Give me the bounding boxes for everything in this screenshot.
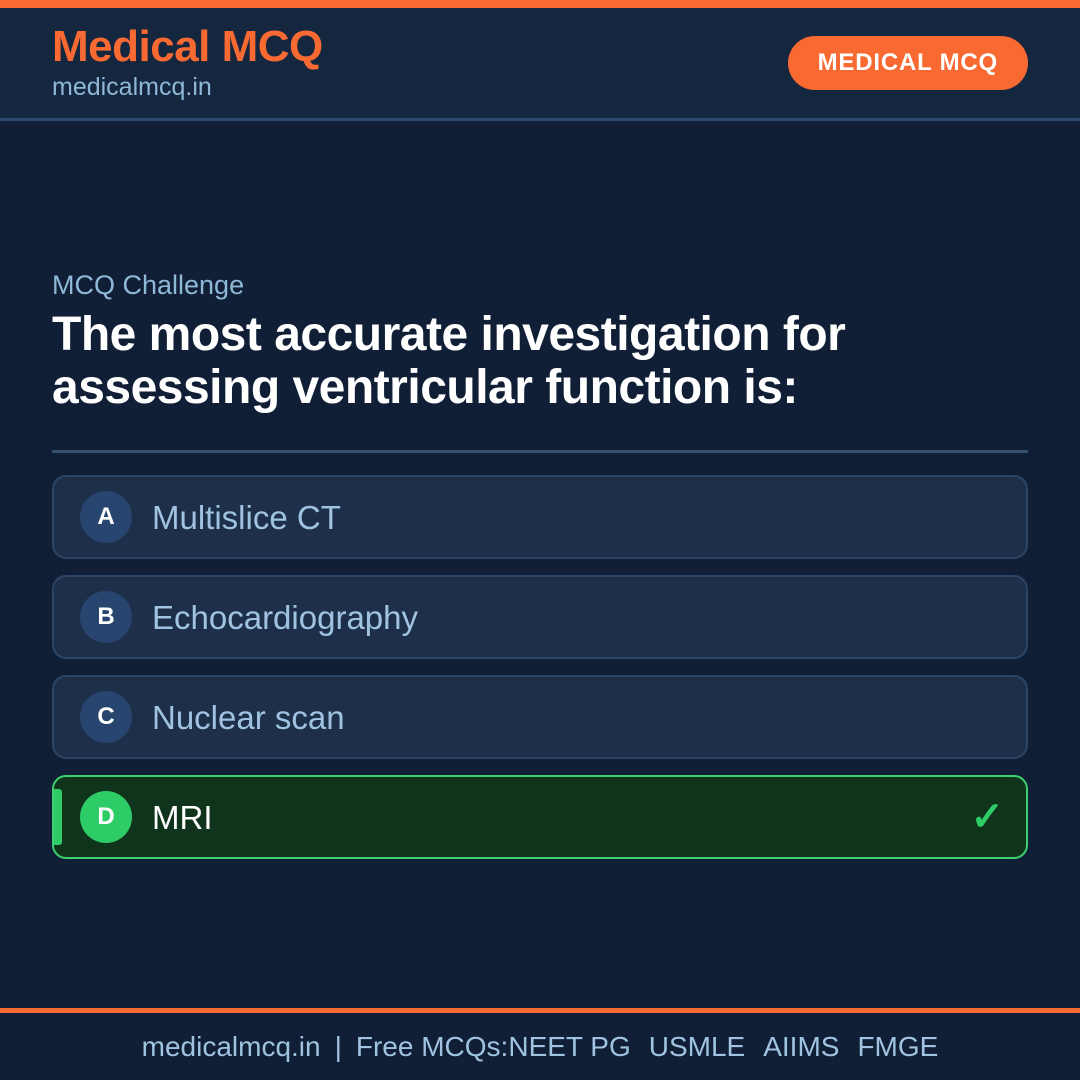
option-a[interactable]: AMultislice CT✓ [52, 475, 1028, 559]
option-c[interactable]: CNuclear scan✓ [52, 675, 1028, 759]
option-d[interactable]: DMRI✓ [52, 775, 1028, 859]
question-text: The most accurate investigation for asse… [52, 309, 1028, 415]
kicker-label: MCQ Challenge [52, 270, 1028, 301]
top-accent-bar [0, 0, 1080, 8]
option-letter-badge: C [80, 691, 132, 743]
footer-site[interactable]: medicalmcq.in [142, 1031, 321, 1063]
brand-block: Medical MCQ medicalmcq.in [52, 24, 323, 102]
option-label: Echocardiography [152, 601, 418, 634]
footer-exam-list: NEET PGUSMLEAIIMSFMGE [508, 1031, 938, 1063]
footer-bar: medicalmcq.in | Free MCQs: NEET PGUSMLEA… [0, 1008, 1080, 1080]
mcq-card: Medical MCQ medicalmcq.in MEDICAL MCQ MC… [0, 0, 1080, 1080]
footer-separator: | [321, 1031, 356, 1063]
question-area: MCQ Challenge The most accurate investig… [0, 121, 1080, 1008]
section-divider [52, 450, 1028, 453]
header-badge[interactable]: MEDICAL MCQ [788, 36, 1028, 90]
footer-exam[interactable]: AIIMS [763, 1031, 839, 1063]
brand-title: Medical MCQ [52, 24, 323, 70]
correct-accent-bar [54, 789, 62, 845]
option-label: Multislice CT [152, 501, 341, 534]
check-icon: ✓ [970, 797, 1004, 837]
option-label: Nuclear scan [152, 701, 345, 734]
footer-label: Free MCQs: [356, 1031, 508, 1063]
option-b[interactable]: BEchocardiography✓ [52, 575, 1028, 659]
option-letter-badge: B [80, 591, 132, 643]
footer-exam[interactable]: NEET PG [508, 1031, 630, 1063]
option-label: MRI [152, 801, 213, 834]
header-bar: Medical MCQ medicalmcq.in MEDICAL MCQ [0, 8, 1080, 121]
footer-exam[interactable]: FMGE [857, 1031, 938, 1063]
brand-subtitle: medicalmcq.in [52, 72, 323, 102]
footer-exam[interactable]: USMLE [649, 1031, 745, 1063]
option-letter-badge: A [80, 491, 132, 543]
options-list: AMultislice CT✓BEchocardiography✓CNuclea… [52, 475, 1028, 859]
option-letter-badge: D [80, 791, 132, 843]
